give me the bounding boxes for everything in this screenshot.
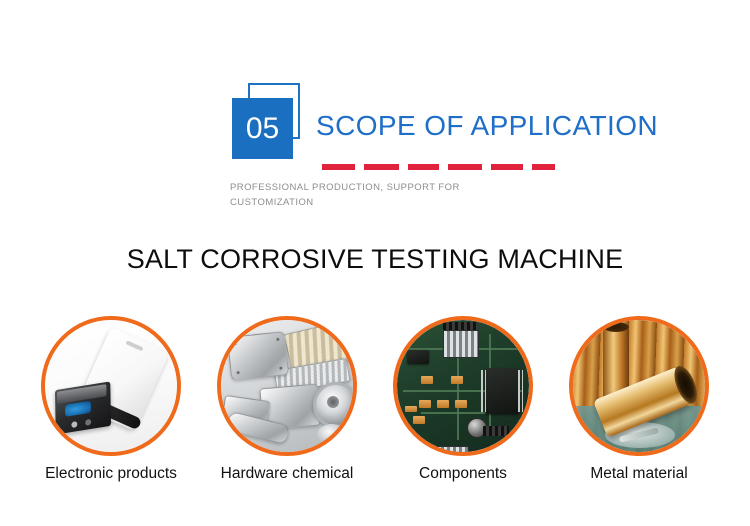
hardware-chemical-photo — [221, 320, 353, 452]
chip-pins-graphic — [518, 370, 523, 412]
pin-header-graphic — [483, 426, 509, 436]
application-card: Electronic products — [40, 316, 182, 506]
electronic-products-photo — [45, 320, 177, 452]
components-pcb-photo — [397, 320, 529, 452]
dash-segment — [491, 164, 523, 170]
application-cards-row: Electronic products — [0, 316, 750, 506]
application-card: Metal material — [568, 316, 710, 506]
metal-material-image — [569, 316, 709, 456]
image-clip — [221, 320, 353, 452]
metal-material-copper-photo — [573, 320, 705, 452]
scale-button-graphic — [85, 419, 91, 426]
pin-header-graphic — [443, 322, 477, 330]
electronic-products-image — [41, 316, 181, 456]
card-label: Electronic products — [45, 465, 177, 483]
drive-logo-graphic — [125, 340, 143, 351]
hardware-chemical-image — [217, 316, 357, 456]
dash-segment — [408, 164, 439, 170]
chip-pins-graphic — [481, 370, 486, 412]
section-number-badge: 05 — [229, 83, 307, 161]
screw-hole-graphic — [236, 371, 239, 374]
roll-opening-graphic — [670, 363, 702, 407]
components-image — [393, 316, 533, 456]
pocket-scale-graphic — [55, 381, 111, 434]
dash-segment — [532, 164, 555, 170]
screw-hole-graphic — [233, 342, 236, 345]
ic-chip-graphic — [485, 368, 519, 414]
product-heading: SALT CORROSIVE TESTING MACHINE — [0, 244, 750, 275]
image-clip — [573, 320, 705, 452]
metal-part-graphic — [227, 331, 289, 381]
connector-graphic — [437, 446, 469, 452]
image-clip — [397, 320, 529, 452]
resistor-graphic — [455, 400, 467, 408]
ic-chip-graphic — [407, 350, 429, 364]
card-label: Hardware chemical — [221, 465, 354, 483]
application-card: Components — [392, 316, 534, 506]
resistor-graphic — [437, 400, 449, 408]
resistor-graphic — [405, 406, 417, 412]
header-block: 05 SCOPE OF APPLICATION PROFESSIONAL PRO… — [0, 0, 750, 230]
dash-segment — [364, 164, 399, 170]
resistor-graphic — [419, 400, 431, 408]
image-clip — [45, 320, 177, 452]
resistor-graphic — [421, 376, 433, 384]
application-card: Hardware chemical — [216, 316, 358, 506]
card-label: Metal material — [590, 465, 687, 483]
section-title: SCOPE OF APPLICATION — [316, 110, 658, 142]
card-label: Components — [419, 465, 507, 483]
scale-button-graphic — [71, 421, 77, 428]
resistor-graphic — [451, 376, 463, 384]
badge-number: 05 — [232, 98, 293, 159]
dash-segment — [448, 164, 482, 170]
slide-canvas: 05 SCOPE OF APPLICATION PROFESSIONAL PRO… — [0, 0, 750, 526]
scale-display-graphic — [65, 401, 91, 417]
connector-graphic — [443, 330, 479, 358]
washer-graphic — [317, 424, 347, 446]
resistor-graphic — [413, 416, 425, 424]
screw-hole-graphic — [276, 338, 279, 341]
bearing-graphic — [313, 382, 353, 428]
dash-segment — [322, 164, 355, 170]
section-subtitle: PROFESSIONAL PRODUCTION, SUPPORT FOR CUS… — [230, 180, 490, 210]
screw-hole-graphic — [279, 367, 282, 370]
red-dash-divider — [322, 164, 555, 170]
